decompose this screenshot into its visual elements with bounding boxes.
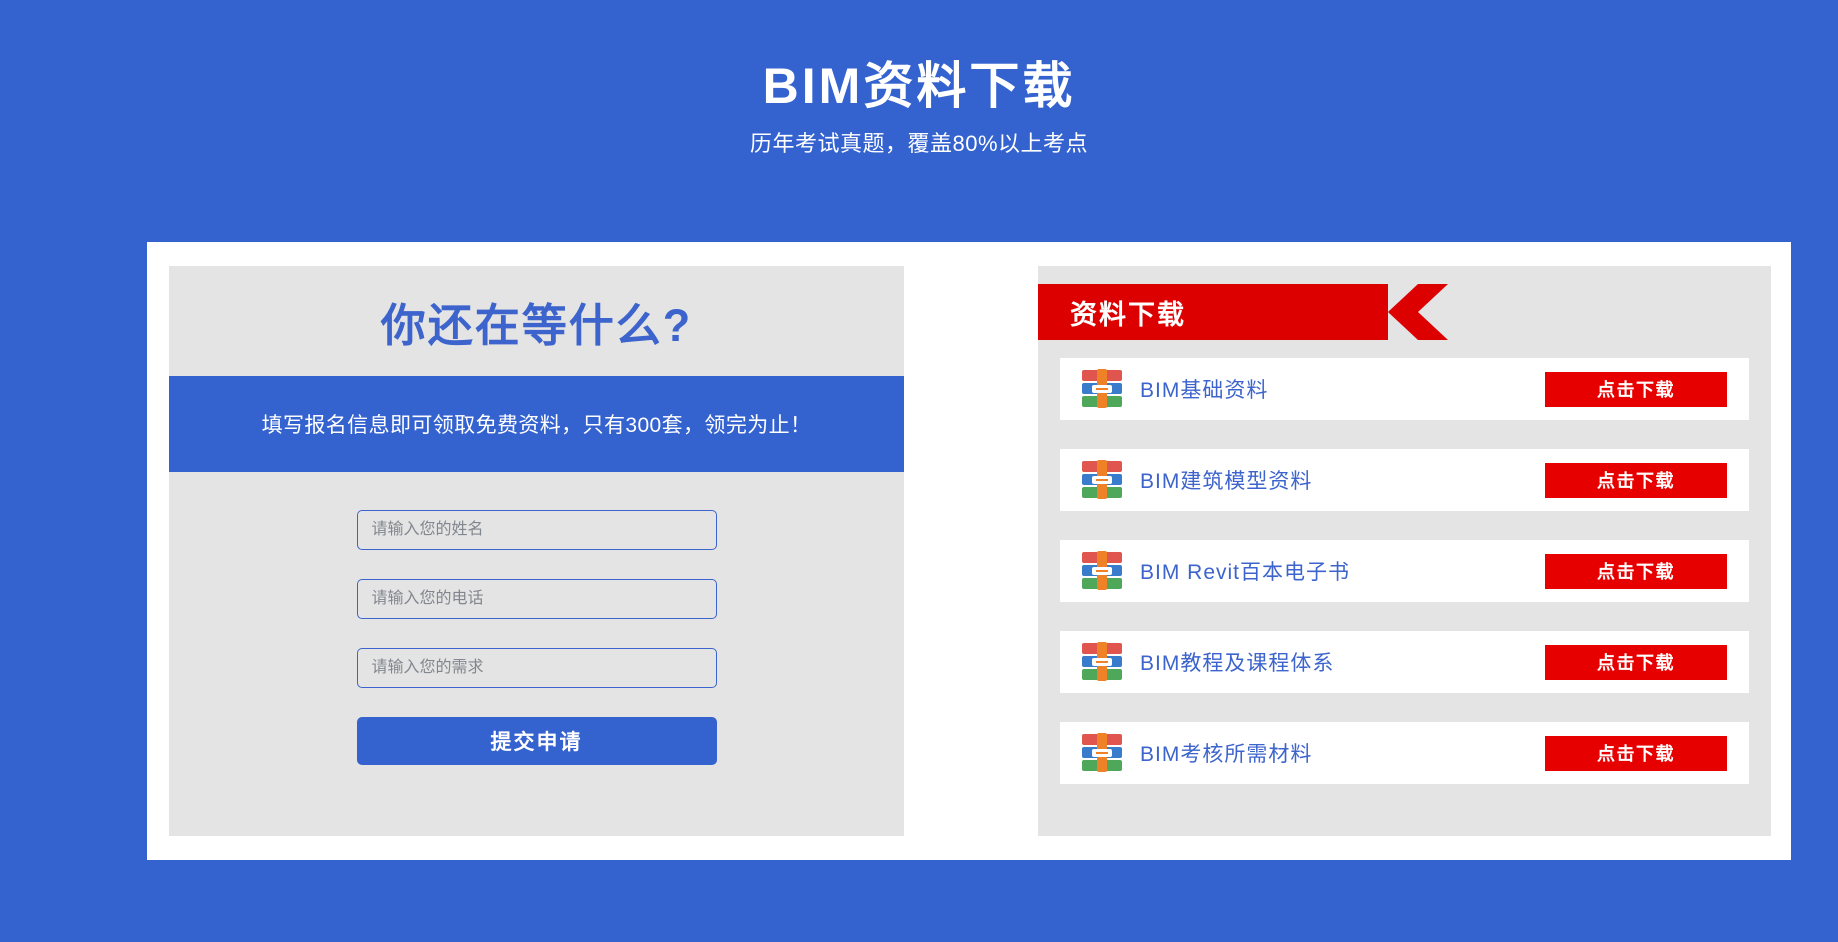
winrar-archive-icon	[1082, 551, 1122, 591]
page-header: BIM资料下载 历年考试真题，覆盖80%以上考点	[0, 0, 1838, 158]
lead-form-panel: 你还在等什么? 填写报名信息即可领取免费资料，只有300套，领完为止！ 提交申请	[169, 266, 904, 836]
requirement-input[interactable]	[357, 648, 717, 688]
winrar-archive-icon	[1082, 733, 1122, 773]
list-item[interactable]: BIM基础资料 点击下载	[1060, 358, 1749, 420]
winrar-archive-icon	[1082, 460, 1122, 500]
download-button[interactable]: 点击下载	[1545, 372, 1727, 407]
left-heading-zone: 你还在等什么?	[169, 266, 904, 376]
phone-input[interactable]	[357, 579, 717, 619]
signup-form: 提交申请	[169, 472, 904, 765]
promo-banner: 填写报名信息即可领取免费资料，只有300套，领完为止！	[169, 376, 904, 472]
page-title: BIM资料下载	[0, 58, 1838, 114]
download-item-title: BIM考核所需材料	[1140, 738, 1545, 768]
download-item-title: BIM基础资料	[1140, 374, 1545, 404]
download-list: BIM基础资料 点击下载 BIM建筑模型资料 点击下载	[1038, 358, 1771, 784]
winrar-archive-icon	[1082, 369, 1122, 409]
download-button[interactable]: 点击下载	[1545, 463, 1727, 498]
download-button[interactable]: 点击下载	[1545, 736, 1727, 771]
list-item[interactable]: BIM教程及课程体系 点击下载	[1060, 631, 1749, 693]
download-item-title: BIM Revit百本电子书	[1140, 556, 1545, 586]
left-panel-heading: 你还在等什么?	[381, 289, 693, 354]
download-item-title: BIM教程及课程体系	[1140, 647, 1545, 677]
list-item[interactable]: BIM Revit百本电子书 点击下载	[1060, 540, 1749, 602]
ribbon-notch-shape	[1418, 284, 1448, 340]
download-button[interactable]: 点击下载	[1545, 645, 1727, 680]
download-button[interactable]: 点击下载	[1545, 554, 1727, 589]
downloads-ribbon: 资料下载	[1038, 284, 1418, 340]
page-subtitle: 历年考试真题，覆盖80%以上考点	[0, 126, 1838, 158]
main-card: 你还在等什么? 填写报名信息即可领取免费资料，只有300套，领完为止！ 提交申请…	[147, 242, 1791, 860]
winrar-archive-icon	[1082, 642, 1122, 682]
name-input[interactable]	[357, 510, 717, 550]
downloads-panel: 资料下载 BIM基础资料 点击下载 BIM	[1038, 266, 1771, 836]
submit-application-button[interactable]: 提交申请	[357, 717, 717, 765]
list-item[interactable]: BIM考核所需材料 点击下载	[1060, 722, 1749, 784]
list-item[interactable]: BIM建筑模型资料 点击下载	[1060, 449, 1749, 511]
download-item-title: BIM建筑模型资料	[1140, 465, 1545, 495]
downloads-ribbon-label: 资料下载	[1070, 293, 1186, 332]
